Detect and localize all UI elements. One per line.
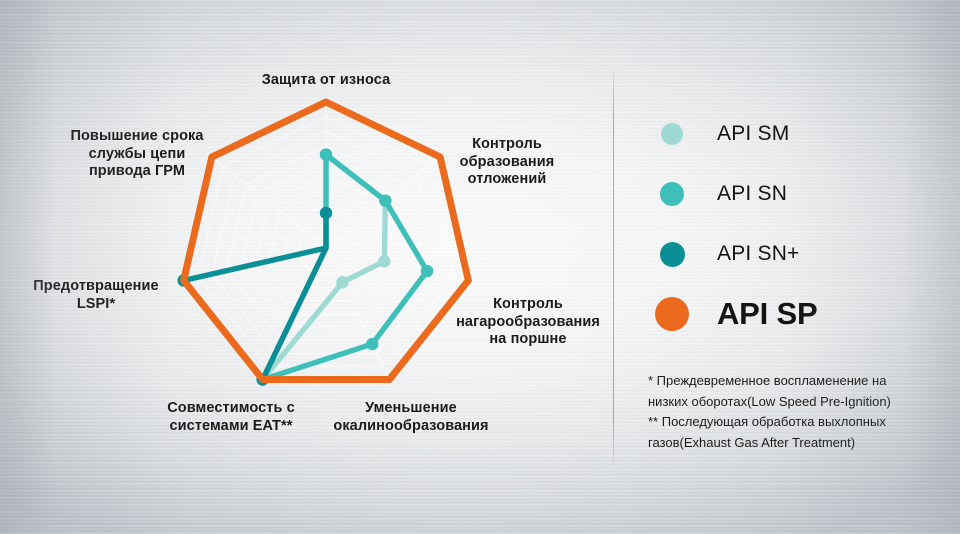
axis-label-wear-protection: Защита от износа xyxy=(216,72,436,90)
series-point xyxy=(320,148,332,160)
legend-swatch-icon xyxy=(660,182,684,206)
footnote-lspi-line1: * Преждевременное воспламенение на xyxy=(648,371,948,392)
footnotes: * Преждевременное воспламенение на низки… xyxy=(648,371,948,453)
vertical-divider xyxy=(613,70,614,466)
series-point xyxy=(336,276,348,288)
footnote-eat-line1: ** Последующая обработка выхлопных xyxy=(648,412,948,433)
series-point xyxy=(421,265,433,277)
legend-item-api-sp[interactable]: API SP xyxy=(655,284,945,344)
series-point xyxy=(320,207,332,219)
series-point xyxy=(378,255,390,267)
legend-label: API SP xyxy=(717,296,817,332)
axis-label-piston-deposit: Контроль нагарообразования на поршне xyxy=(433,296,623,349)
axis-label-scale-reduction: Уменьшение окалинообразования xyxy=(316,400,506,435)
slide-root: Защита от износаКонтроль образования отл… xyxy=(0,0,960,534)
legend: API SMAPI SNAPI SN+API SP xyxy=(655,104,945,344)
axis-label-deposit-control: Контроль образования отложений xyxy=(432,136,582,189)
legend-label: API SM xyxy=(717,122,789,146)
legend-label: API SN+ xyxy=(717,242,800,266)
series-point xyxy=(379,194,391,206)
legend-label: API SN xyxy=(717,182,787,206)
axis-label-timing-chain-life: Повышение срока службы цепи привода ГРМ xyxy=(47,128,227,181)
legend-swatch-icon xyxy=(655,297,689,331)
legend-item-api-sn[interactable]: API SN xyxy=(655,164,945,224)
legend-swatch-icon xyxy=(660,242,685,267)
footnote-lspi-line2: низких оборотах(Low Speed Pre-Ignition) xyxy=(648,392,948,413)
legend-swatch-icon xyxy=(661,123,683,145)
series-point xyxy=(366,338,378,350)
axis-label-eat-compatibility: Совместимость с системами EAT** xyxy=(136,400,326,435)
legend-item-api-sn[interactable]: API SN+ xyxy=(655,224,945,284)
series-outline xyxy=(184,213,326,380)
radar-chart: Защита от износаКонтроль образования отл… xyxy=(0,0,613,534)
legend-item-api-sm[interactable]: API SM xyxy=(655,104,945,164)
axis-label-lspi-prevention: Предотвращение LSPI* xyxy=(11,278,181,313)
footnote-eat-line2: газов(Exhaust Gas After Treatment) xyxy=(648,433,948,454)
